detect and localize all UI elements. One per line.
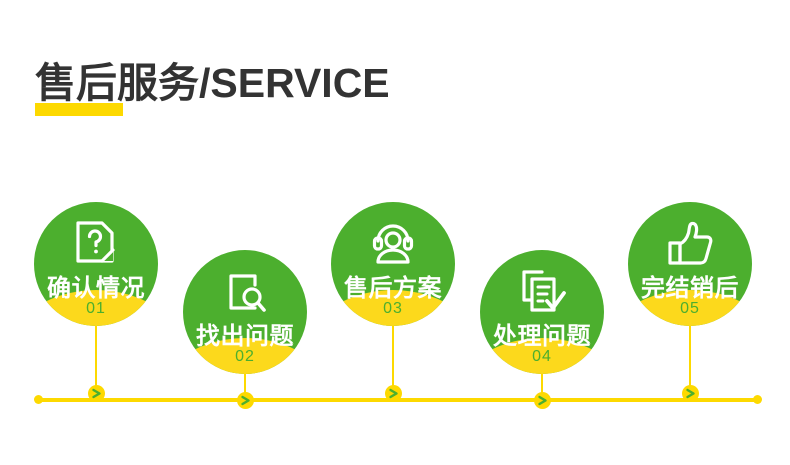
thumbs-up-icon [664,220,716,266]
step-label: 找出问题 [183,316,307,351]
step-number: 04 [480,348,604,366]
document-check-icon [516,268,568,314]
step-02[interactable]: 找出问题02 [183,250,307,374]
chevron-right-icon [534,392,551,409]
step-number: 01 [34,300,158,318]
step-label: 处理问题 [480,316,604,351]
chevron-right-icon [682,385,699,402]
chevron-right-icon [237,392,254,409]
step-01[interactable]: 确认情况01 [34,202,158,326]
step-number: 03 [331,300,455,318]
step-connector-line [95,318,97,393]
step-03[interactable]: 售后方案03 [331,202,455,326]
page-title-block: 售后服务/SERVICE [35,52,390,114]
chevron-right-icon [385,385,402,402]
step-number: 05 [628,300,752,318]
document-search-icon [219,268,271,314]
timeline-marker-03[interactable] [385,385,402,402]
step-connector-line [689,318,691,393]
step-label: 完结销后 [628,268,752,303]
step-04[interactable]: 处理问题04 [480,250,604,374]
headset-support-icon [367,220,419,266]
step-05[interactable]: 完结销后05 [628,202,752,326]
timeline-marker-01[interactable] [88,385,105,402]
page-title: 售后服务/SERVICE [35,52,390,114]
step-label: 售后方案 [331,268,455,303]
timeline-marker-04[interactable] [534,392,551,409]
timeline-marker-05[interactable] [682,385,699,402]
document-question-icon [70,220,122,266]
chevron-right-icon [88,385,105,402]
infographic-canvas: 售后服务/SERVICE 确认情况01找出问题02售后方案03处理问题04完结销… [0,0,790,465]
step-connector-line [392,318,394,393]
step-number: 02 [183,348,307,366]
timeline-marker-02[interactable] [237,392,254,409]
timeline-endcap-right-dot-icon [753,395,762,404]
step-label: 确认情况 [34,268,158,303]
timeline-endcap-left-dot-icon [34,395,43,404]
